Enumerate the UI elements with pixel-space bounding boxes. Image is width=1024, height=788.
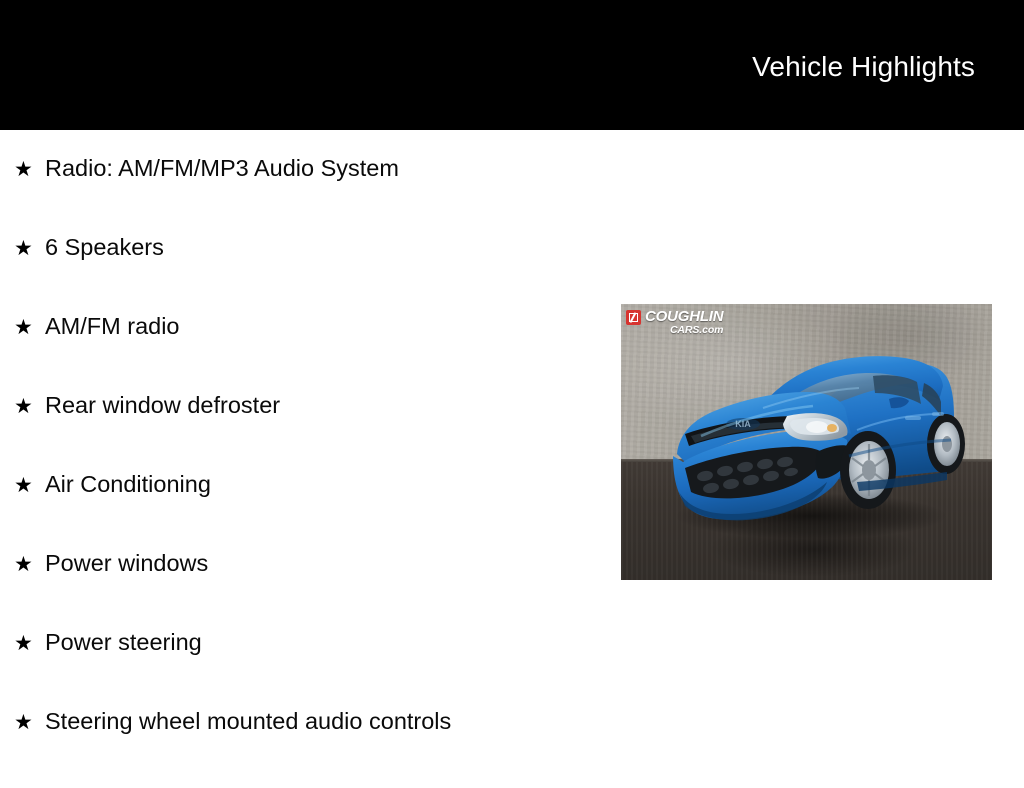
list-item: ★ Power steering — [0, 630, 620, 709]
list-item: ★ Radio: AM/FM/MP3 Audio System — [0, 130, 620, 235]
list-item: ★ 6 Speakers — [0, 235, 620, 314]
star-bullet-icon: ★ — [14, 395, 45, 419]
list-item: ★ AM/FM radio — [0, 314, 620, 393]
watermark-dealer-name: COUGHLIN — [645, 309, 723, 324]
list-item-label: AM/FM radio — [45, 314, 180, 338]
list-item-label: Power windows — [45, 551, 208, 575]
star-bullet-icon: ★ — [14, 158, 45, 182]
page-title: Vehicle Highlights — [752, 50, 975, 84]
list-item: ★ Power windows — [0, 551, 620, 630]
watermark-dealer-site: CARS.com — [645, 325, 723, 336]
star-bullet-icon: ★ — [14, 632, 45, 656]
list-item-label: 6 Speakers — [45, 235, 164, 259]
star-bullet-icon: ★ — [14, 474, 45, 498]
star-bullet-icon: ★ — [14, 237, 45, 261]
watermark-text: COUGHLIN CARS.com — [645, 309, 723, 336]
star-bullet-icon: ★ — [14, 316, 45, 340]
header-banner: Vehicle Highlights — [0, 0, 1024, 130]
list-item: ★ Rear window defroster — [0, 393, 620, 472]
coughlin-logo-icon — [626, 310, 641, 325]
list-item: ★ Air Conditioning — [0, 472, 620, 551]
list-item-label: Air Conditioning — [45, 472, 211, 496]
list-item: ★ Steering wheel mounted audio controls — [0, 709, 620, 788]
star-bullet-icon: ★ — [14, 711, 45, 735]
car-illustration: KIA — [621, 304, 992, 580]
star-bullet-icon: ★ — [14, 553, 45, 577]
list-item-label: Power steering — [45, 630, 202, 654]
list-item-label: Steering wheel mounted audio controls — [45, 709, 451, 733]
list-item-label: Radio: AM/FM/MP3 Audio System — [45, 156, 399, 180]
vehicle-photo: KIA — [621, 304, 992, 580]
dealer-watermark: COUGHLIN CARS.com — [626, 309, 723, 336]
list-item-label: Rear window defroster — [45, 393, 280, 417]
vehicle-highlights-list: ★ Radio: AM/FM/MP3 Audio System ★ 6 Spea… — [0, 130, 620, 788]
